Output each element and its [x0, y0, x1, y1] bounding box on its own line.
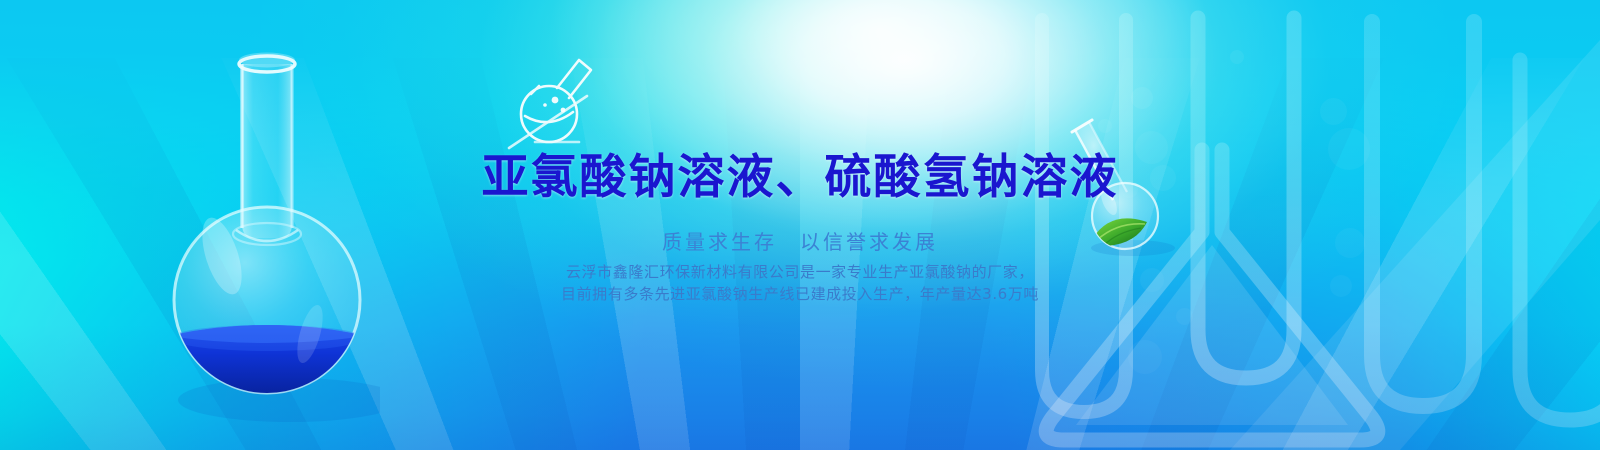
bottom-vignette — [0, 0, 1600, 450]
promo-banner: 亚氯酸钠溶液、硫酸氢钠溶液 质量求生存 以信誉求发展 云浮市鑫隆汇环保新材料有限… — [0, 0, 1600, 450]
